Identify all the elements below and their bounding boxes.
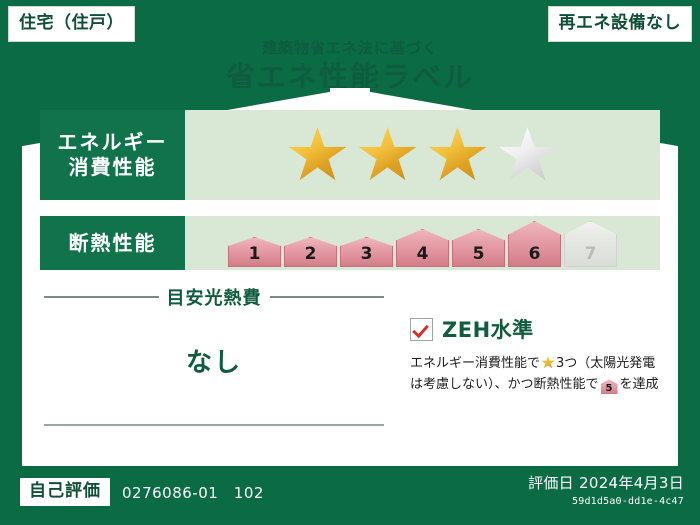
utility-cost-value: なし bbox=[40, 342, 388, 379]
energy-performance-label: エネルギー 消費性能 bbox=[40, 110, 185, 200]
insulation-level-7: 7 bbox=[564, 221, 617, 267]
house-icon: 2 bbox=[284, 237, 337, 267]
house-icon: 7 bbox=[564, 221, 617, 267]
certificate-number: 0276086-01 102 bbox=[122, 482, 264, 503]
title-subtitle: 建築物省エネ法に基づく bbox=[0, 40, 700, 57]
document-hash: 59d1d5a0-dd1e-4c47 bbox=[528, 496, 684, 507]
house-icon: 3 bbox=[340, 237, 393, 267]
utility-cost-rule-right bbox=[270, 296, 385, 298]
star-rating bbox=[185, 110, 660, 200]
star-icon-filled bbox=[289, 127, 347, 183]
insulation-scale-wrapper: 1234567 bbox=[185, 216, 660, 270]
utility-cost-title: 目安光熱費 bbox=[167, 284, 262, 310]
zeh-title: ZEH水準 bbox=[442, 314, 534, 344]
insulation-level-3: 3 bbox=[340, 237, 393, 267]
zeh-description: エネルギー消費性能で3つ（太陽光発電は考慮しない）、かつ断熱性能で5を達成 bbox=[410, 353, 660, 396]
house-level-icon: 5 bbox=[601, 379, 618, 394]
insulation-performance-row: 断熱性能 1234567 bbox=[40, 216, 660, 270]
insulation-level-5: 5 bbox=[452, 229, 505, 267]
energy-label-line2: 消費性能 bbox=[69, 155, 157, 180]
insulation-performance-label: 断熱性能 bbox=[40, 216, 185, 270]
star-icon-filled bbox=[429, 127, 487, 183]
insulation-level-number: 4 bbox=[417, 246, 429, 267]
star-icon bbox=[541, 356, 555, 369]
house-icon: 1 bbox=[228, 237, 281, 267]
label-title-block: 建築物省エネ法に基づく 省エネ性能ラベル bbox=[0, 40, 700, 94]
insulation-level-6: 6 bbox=[508, 221, 561, 267]
footer-right-group: 評価日 2024年4月3日 59d1d5a0-dd1e-4c47 bbox=[528, 474, 684, 507]
insulation-label-text: 断熱性能 bbox=[69, 231, 157, 256]
label-footer: 自己評価 0276086-01 102 評価日 2024年4月3日 59d1d5… bbox=[0, 466, 700, 525]
evaluation-date: 評価日 2024年4月3日 bbox=[528, 474, 684, 494]
insulation-level-number: 1 bbox=[249, 246, 261, 267]
insulation-level-number: 7 bbox=[585, 246, 597, 267]
zeh-desc-part1: エネルギー消費性能で bbox=[410, 356, 540, 371]
utility-cost-header: 目安光熱費 bbox=[40, 284, 388, 310]
energy-performance-label: 住宅（住戸） 再エネ設備なし 建築物省エネ法に基づく 省エネ性能ラベル エネルギ… bbox=[0, 0, 700, 525]
label-body-panel: エネルギー 消費性能 断熱性能 1234567 目安光熱費 なし bbox=[22, 88, 678, 466]
star-icon-filled bbox=[359, 127, 417, 183]
star-icon-empty bbox=[499, 127, 557, 183]
check-icon bbox=[410, 318, 433, 341]
insulation-level-number: 2 bbox=[305, 246, 317, 267]
insulation-level-number: 6 bbox=[529, 246, 541, 267]
lower-info-area: 目安光熱費 なし ZEH水準 エネルギー消費性能で3つ（太陽光発電は考慮しない）… bbox=[40, 284, 660, 454]
utility-cost-divider bbox=[44, 424, 384, 426]
energy-label-line1: エネルギー bbox=[58, 130, 168, 155]
house-icon: 6 bbox=[508, 221, 561, 267]
insulation-level-4: 4 bbox=[396, 229, 449, 267]
self-evaluation-badge: 自己評価 bbox=[20, 478, 110, 506]
building-type-badge: 住宅（住戸） bbox=[8, 6, 135, 42]
footer-left-group: 自己評価 0276086-01 102 bbox=[20, 478, 264, 506]
insulation-level-1: 1 bbox=[228, 237, 281, 267]
utility-cost-section: 目安光熱費 なし bbox=[40, 284, 388, 454]
house-icon: 5 bbox=[452, 229, 505, 267]
insulation-level-2: 2 bbox=[284, 237, 337, 267]
energy-performance-row: エネルギー 消費性能 bbox=[40, 110, 660, 200]
zeh-desc-part3: を達成 bbox=[620, 377, 659, 392]
renewable-equipment-badge: 再エネ設備なし bbox=[548, 6, 693, 42]
insulation-level-number: 5 bbox=[473, 246, 485, 267]
insulation-level-number: 3 bbox=[361, 246, 373, 267]
insulation-level-scale: 1234567 bbox=[228, 216, 617, 270]
zeh-heading: ZEH水準 bbox=[410, 314, 660, 344]
zeh-section: ZEH水準 エネルギー消費性能で3つ（太陽光発電は考慮しない）、かつ断熱性能で5… bbox=[388, 284, 660, 454]
house-icon: 4 bbox=[396, 229, 449, 267]
utility-cost-rule-left bbox=[44, 296, 159, 298]
